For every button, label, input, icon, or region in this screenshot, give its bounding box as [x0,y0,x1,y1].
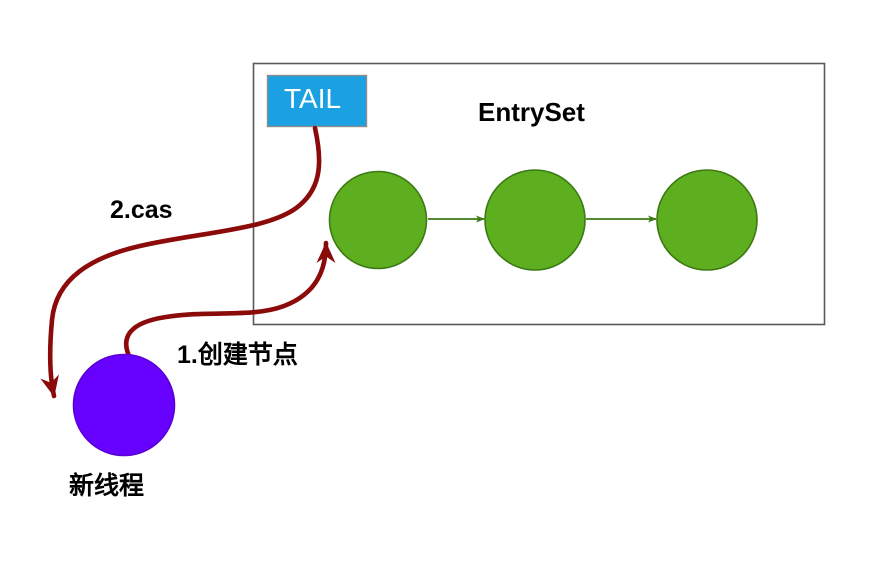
new-thread-circle[interactable] [74,355,175,456]
tail-pointer-box[interactable] [268,76,367,127]
entry-node-2[interactable] [485,170,585,270]
diagram-svg [0,0,896,568]
diagram-canvas: TAIL EntrySet 2.cas 1.创建节点 新线程 [0,0,896,568]
entry-node-3[interactable] [657,170,757,270]
entry-node-1[interactable] [330,172,427,269]
